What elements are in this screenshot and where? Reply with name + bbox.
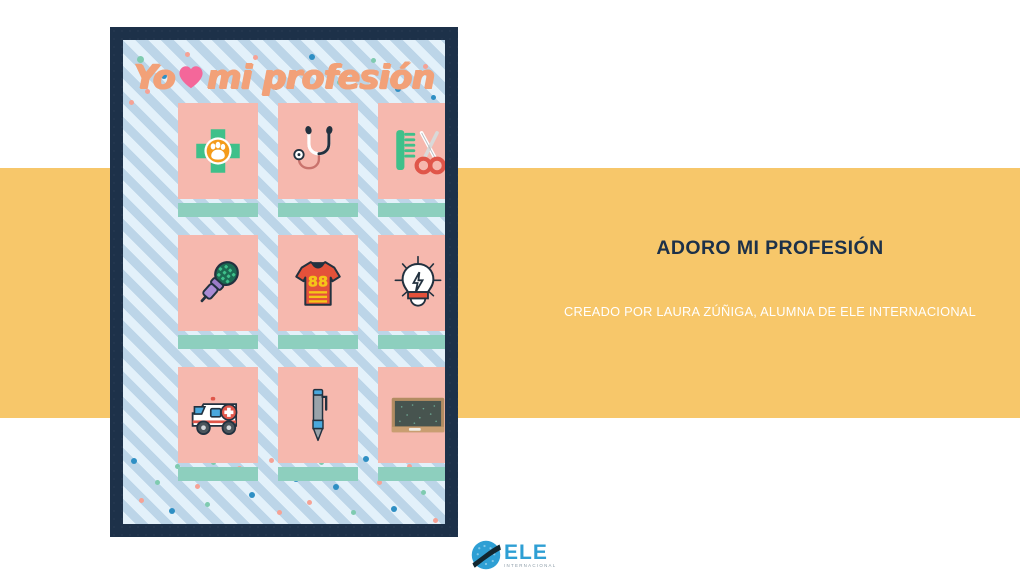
card-photo (178, 103, 258, 199)
poster-title-part1: Yo (134, 60, 175, 93)
profession-card-veterinario[interactable] (178, 103, 258, 217)
confetti-dot (391, 506, 397, 512)
slide-text-block: ADORO MI PROFESIÓN CREADO POR LAURA ZÚÑI… (520, 236, 1020, 321)
profession-card-paramedico[interactable] (178, 367, 258, 481)
profession-card-profesor[interactable] (378, 367, 445, 481)
card-row (178, 103, 445, 217)
card-photo (378, 367, 445, 463)
card-photo (178, 235, 258, 331)
card-row: 88 (178, 235, 445, 349)
confetti-dot (131, 458, 137, 464)
card-caption-strip (378, 335, 445, 349)
ambulance-icon (189, 386, 247, 444)
light-bulb-icon (389, 254, 445, 312)
confetti-dot (307, 500, 312, 505)
slide-credit-line: CREADO POR LAURA ZÚÑIGA, ALUMNA DE ELE I… (520, 304, 1020, 321)
confetti-dot (155, 480, 160, 485)
stethoscope-icon (289, 122, 347, 180)
poster-canvas: Yo mi profesión (123, 40, 445, 524)
card-caption-strip (178, 467, 258, 481)
confetti-dot (277, 510, 282, 515)
card-caption-strip (278, 335, 358, 349)
profession-card-medico[interactable] (278, 103, 358, 217)
confetti-dot (205, 502, 210, 507)
jersey-number: 88 (308, 275, 328, 291)
card-photo (278, 103, 358, 199)
sports-jersey-icon: 88 (289, 254, 347, 312)
confetti-dot (351, 510, 356, 515)
card-photo (278, 367, 358, 463)
profession-card-deportista[interactable]: 88 (278, 235, 358, 349)
confetti-dot (129, 100, 134, 105)
profession-card-cantante[interactable] (178, 235, 258, 349)
heart-icon (178, 65, 204, 89)
confetti-dot (139, 498, 144, 503)
poster-title-part2: mi profesión (207, 60, 435, 93)
card-caption-strip (178, 335, 258, 349)
card-photo (378, 103, 445, 199)
profession-card-peluquero[interactable] (378, 103, 445, 217)
ele-name: ELE (504, 542, 557, 563)
pen-icon (289, 386, 347, 444)
ele-logo: ELE INTERNACIONAL (471, 539, 557, 571)
card-caption-strip (278, 467, 358, 481)
card-row (178, 367, 445, 481)
confetti-dot (169, 508, 175, 514)
card-photo (178, 367, 258, 463)
card-caption-strip (378, 203, 445, 217)
card-caption-strip (278, 203, 358, 217)
poster-title: Yo mi profesión (123, 52, 445, 100)
chalkboard-icon (389, 386, 445, 444)
confetti-dot (433, 518, 438, 523)
profession-card-inventor[interactable] (378, 235, 445, 349)
profession-card-escritor[interactable] (278, 367, 358, 481)
profession-card-grid: 88 (178, 103, 445, 499)
card-photo: 88 (278, 235, 358, 331)
ele-wordmark: ELE INTERNACIONAL (504, 542, 557, 568)
ele-tagline: INTERNACIONAL (504, 564, 557, 568)
poster-frame: Yo mi profesión (110, 27, 458, 537)
page-title: ADORO MI PROFESIÓN (520, 236, 1020, 260)
comb-and-scissors-icon (389, 122, 445, 180)
card-caption-strip (178, 203, 258, 217)
veterinary-cross-paw-icon (189, 122, 247, 180)
globe-icon (471, 540, 501, 570)
card-caption-strip (378, 467, 445, 481)
card-photo (378, 235, 445, 331)
microphone-icon (189, 254, 247, 312)
